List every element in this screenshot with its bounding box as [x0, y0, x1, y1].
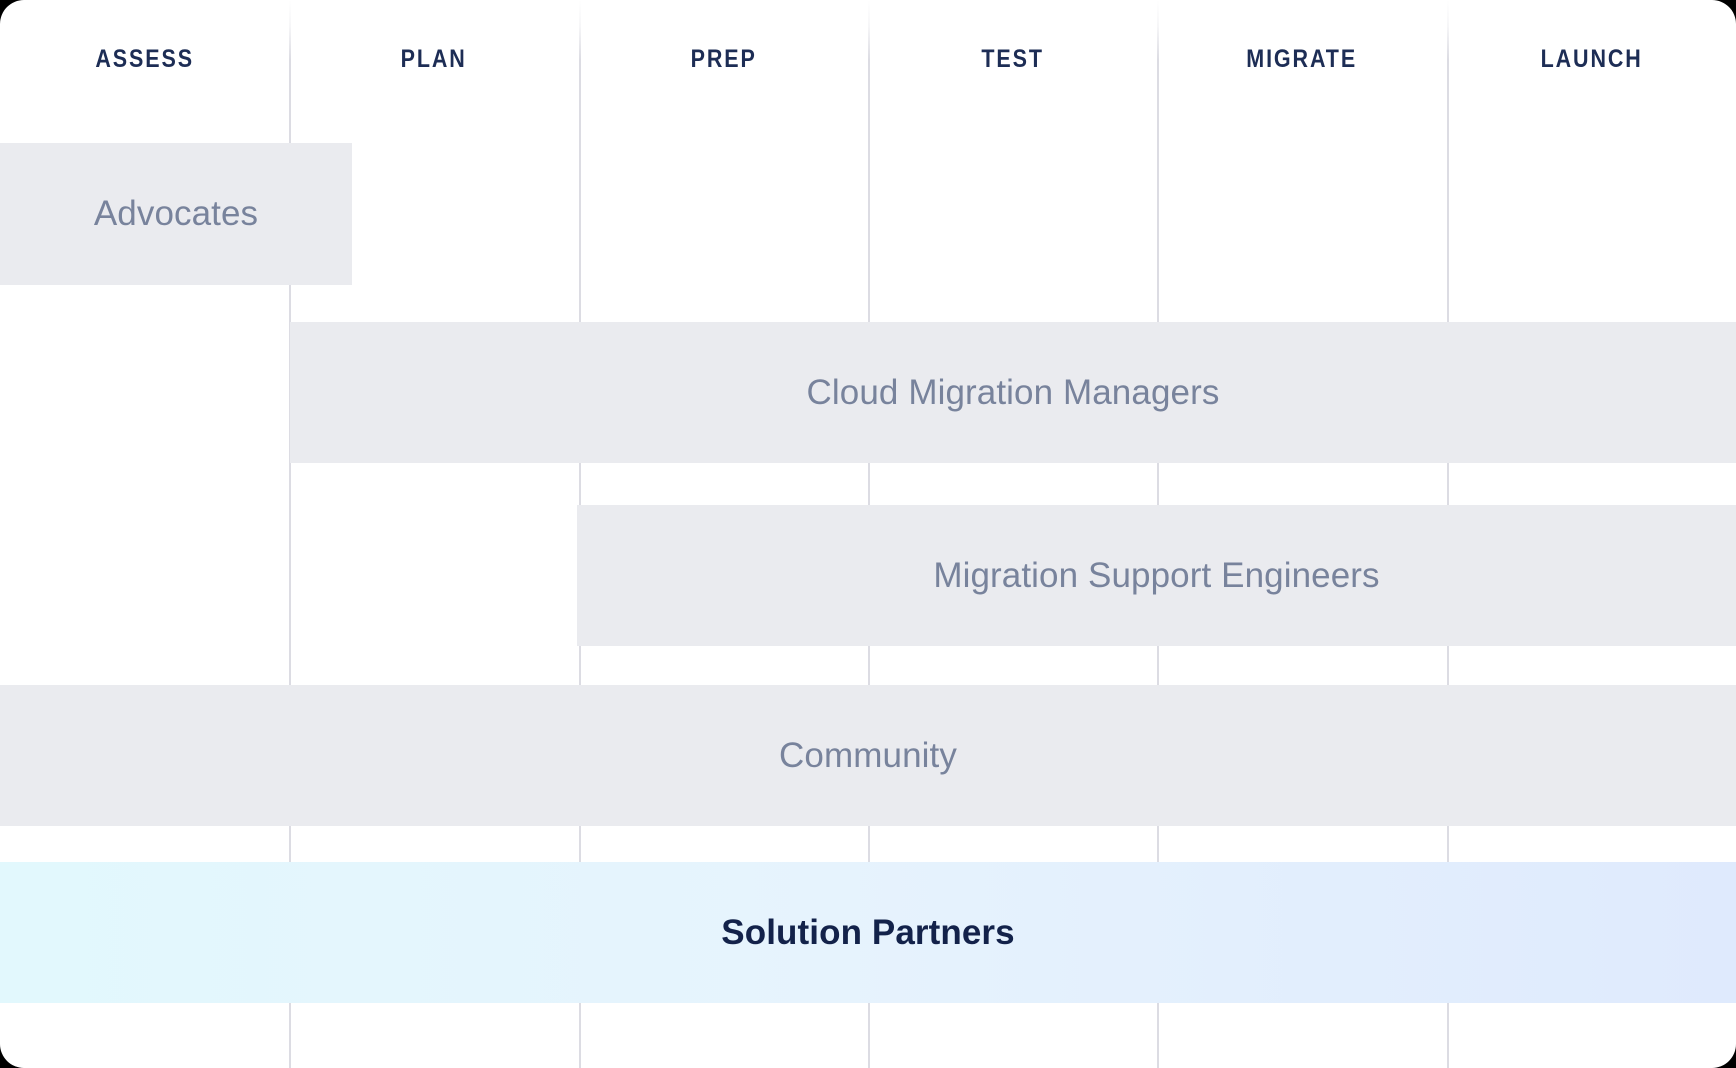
role-bar-migration-support-engineers: Migration Support Engineers	[577, 505, 1736, 646]
role-bar-label-advocates: Advocates	[94, 194, 258, 234]
role-bar-cloud-migration-managers: Cloud Migration Managers	[290, 322, 1736, 463]
phase-header-launch: LAUNCH	[1467, 45, 1716, 74]
phase-header-prep: PREP	[599, 45, 848, 74]
role-bars: Advocates Cloud Migration Managers Migra…	[0, 0, 1736, 1068]
role-bar-label-community: Community	[779, 736, 957, 776]
phase-header-migrate: MIGRATE	[1178, 45, 1427, 74]
role-bar-advocates: Advocates	[0, 143, 352, 285]
role-bar-solution-partners: Solution Partners	[0, 862, 1736, 1003]
role-bar-label-migration-support-engineers: Migration Support Engineers	[933, 556, 1379, 596]
role-bar-label-solution-partners: Solution Partners	[721, 913, 1014, 953]
role-bar-label-cloud-migration-managers: Cloud Migration Managers	[807, 373, 1220, 413]
role-bar-community: Community	[0, 685, 1736, 826]
phase-header-row: ASSESS PLAN PREP TEST MIGRATE LAUNCH	[0, 0, 1736, 118]
phase-header-assess: ASSESS	[20, 45, 269, 74]
migration-timeline-card: Advocates Cloud Migration Managers Migra…	[0, 0, 1736, 1068]
phase-header-test: TEST	[888, 45, 1137, 74]
phase-header-plan: PLAN	[310, 45, 559, 74]
